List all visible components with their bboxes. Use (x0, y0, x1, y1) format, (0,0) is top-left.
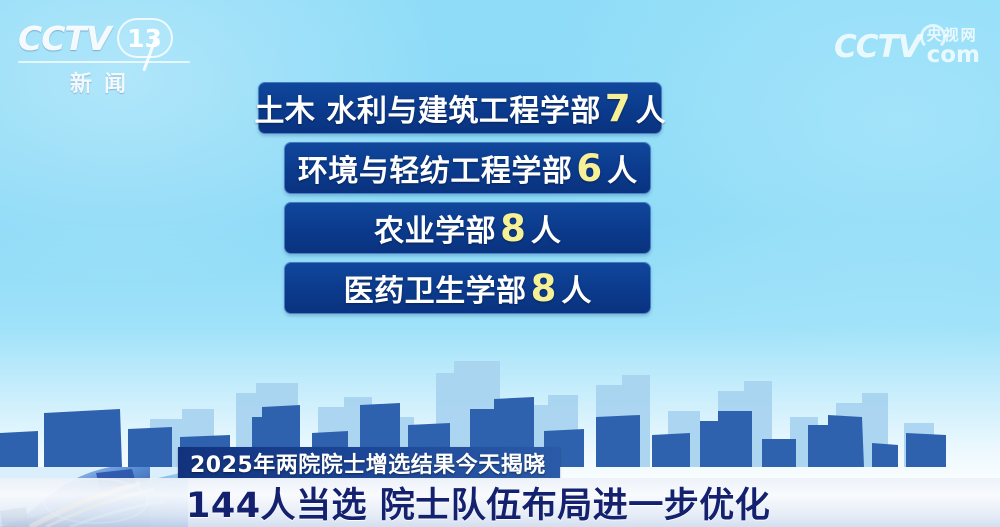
headline-text: 144人当选 院士队伍布局进一步优化 (186, 477, 770, 527)
channel-logo-row: CCTV 13 (18, 18, 228, 58)
stat-unit: 人 (561, 266, 591, 310)
stat-row-environment-textile: 环境与轻纺工程学部 6 人 (284, 142, 651, 194)
stat-row-civil-engineering: 土木 水利与建筑工程学部 7 人 (258, 82, 662, 134)
broadcast-screen: CCTV 13 新闻 CCTV 央视网 com 土木 水利与建筑工程学部 7 人… (0, 0, 1000, 527)
stat-unit: 人 (607, 146, 637, 190)
stat-count: 8 (531, 267, 557, 310)
kicker-text: 2025年两院院士增选结果今天揭晓 (190, 447, 546, 479)
watermark-circle-icon (920, 24, 946, 50)
kicker-bar: 2025年两院院士增选结果今天揭晓 (178, 447, 560, 478)
stat-label: 农业学部 (374, 206, 496, 250)
headline-band: 144人当选 院士队伍布局进一步优化 (0, 478, 1000, 527)
stat-unit: 人 (636, 86, 666, 130)
stat-row-agriculture: 农业学部 8 人 (284, 202, 651, 254)
stat-label: 土木 水利与建筑工程学部 (254, 86, 600, 130)
stat-row-medicine-health: 医药卫生学部 8 人 (284, 262, 651, 314)
stat-unit: 人 (531, 206, 561, 250)
channel-number: 13 (127, 26, 162, 51)
stat-count: 8 (500, 207, 526, 250)
watermark-wordmark: CCTV (834, 32, 921, 63)
lower-third: 2025年两院院士增选结果今天揭晓 144人当选 院士队伍布局进一步优化 (0, 447, 1000, 527)
stat-count: 6 (576, 147, 602, 190)
cctv-wordmark: CCTV (18, 22, 111, 55)
channel-logo-cctv13: CCTV 13 新闻 (18, 18, 228, 88)
stat-label: 环境与轻纺工程学部 (298, 146, 573, 190)
logo-underline (18, 61, 190, 63)
cctv-com-watermark: CCTV 央视网 com (834, 22, 980, 72)
stat-count: 7 (605, 87, 631, 130)
stat-label: 医药卫生学部 (344, 266, 527, 310)
academy-division-stats: 土木 水利与建筑工程学部 7 人 环境与轻纺工程学部 6 人 农业学部 8 人 … (0, 82, 1000, 322)
channel-number-badge: 13 (117, 18, 173, 58)
